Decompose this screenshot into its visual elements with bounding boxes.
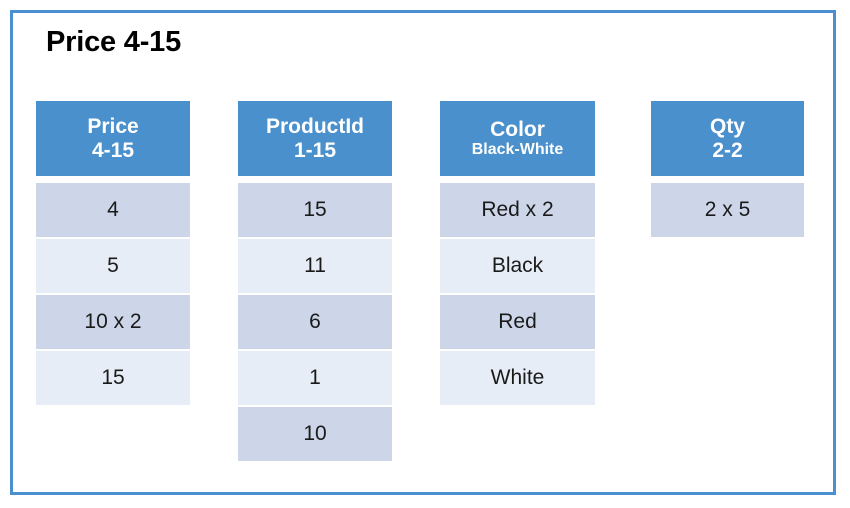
list-item: 2 x 5 bbox=[651, 183, 804, 237]
column-color: Color Black-White Red x 2 Black Red Whit… bbox=[440, 101, 595, 407]
column-header-range: 1-15 bbox=[294, 139, 336, 163]
list-item: 10 x 2 bbox=[36, 295, 190, 349]
list-item: Red bbox=[440, 295, 595, 349]
column-price: Price 4-15 4 5 10 x 2 15 bbox=[36, 101, 190, 407]
list-item: White bbox=[440, 351, 595, 405]
list-item: 6 bbox=[238, 295, 392, 349]
column-header-range: 4-15 bbox=[92, 139, 134, 163]
column-productid: ProductId 1-15 15 11 6 1 10 bbox=[238, 101, 392, 463]
column-header-title: Color bbox=[490, 118, 545, 142]
list-item: 4 bbox=[36, 183, 190, 237]
list-item: 15 bbox=[238, 183, 392, 237]
column-qty: Qty 2-2 2 x 5 bbox=[651, 101, 804, 239]
column-header-title: Price bbox=[87, 115, 138, 139]
list-item: Red x 2 bbox=[440, 183, 595, 237]
columns-container: Price 4-15 4 5 10 x 2 15 ProductId 1-15 … bbox=[0, 0, 850, 508]
column-header-price: Price 4-15 bbox=[36, 101, 190, 176]
slide-canvas: Price 4-15 Price 4-15 4 5 10 x 2 15 Prod… bbox=[0, 0, 850, 508]
list-item: 1 bbox=[238, 351, 392, 405]
list-item: 11 bbox=[238, 239, 392, 293]
list-item: 5 bbox=[36, 239, 190, 293]
list-item: Black bbox=[440, 239, 595, 293]
column-header-color: Color Black-White bbox=[440, 101, 595, 176]
list-item: 15 bbox=[36, 351, 190, 405]
column-header-range: 2-2 bbox=[712, 139, 742, 163]
column-header-title: ProductId bbox=[266, 115, 364, 139]
column-header-title: Qty bbox=[710, 115, 745, 139]
column-header-productid: ProductId 1-15 bbox=[238, 101, 392, 176]
column-header-range: Black-White bbox=[472, 141, 564, 159]
column-header-qty: Qty 2-2 bbox=[651, 101, 804, 176]
list-item: 10 bbox=[238, 407, 392, 461]
